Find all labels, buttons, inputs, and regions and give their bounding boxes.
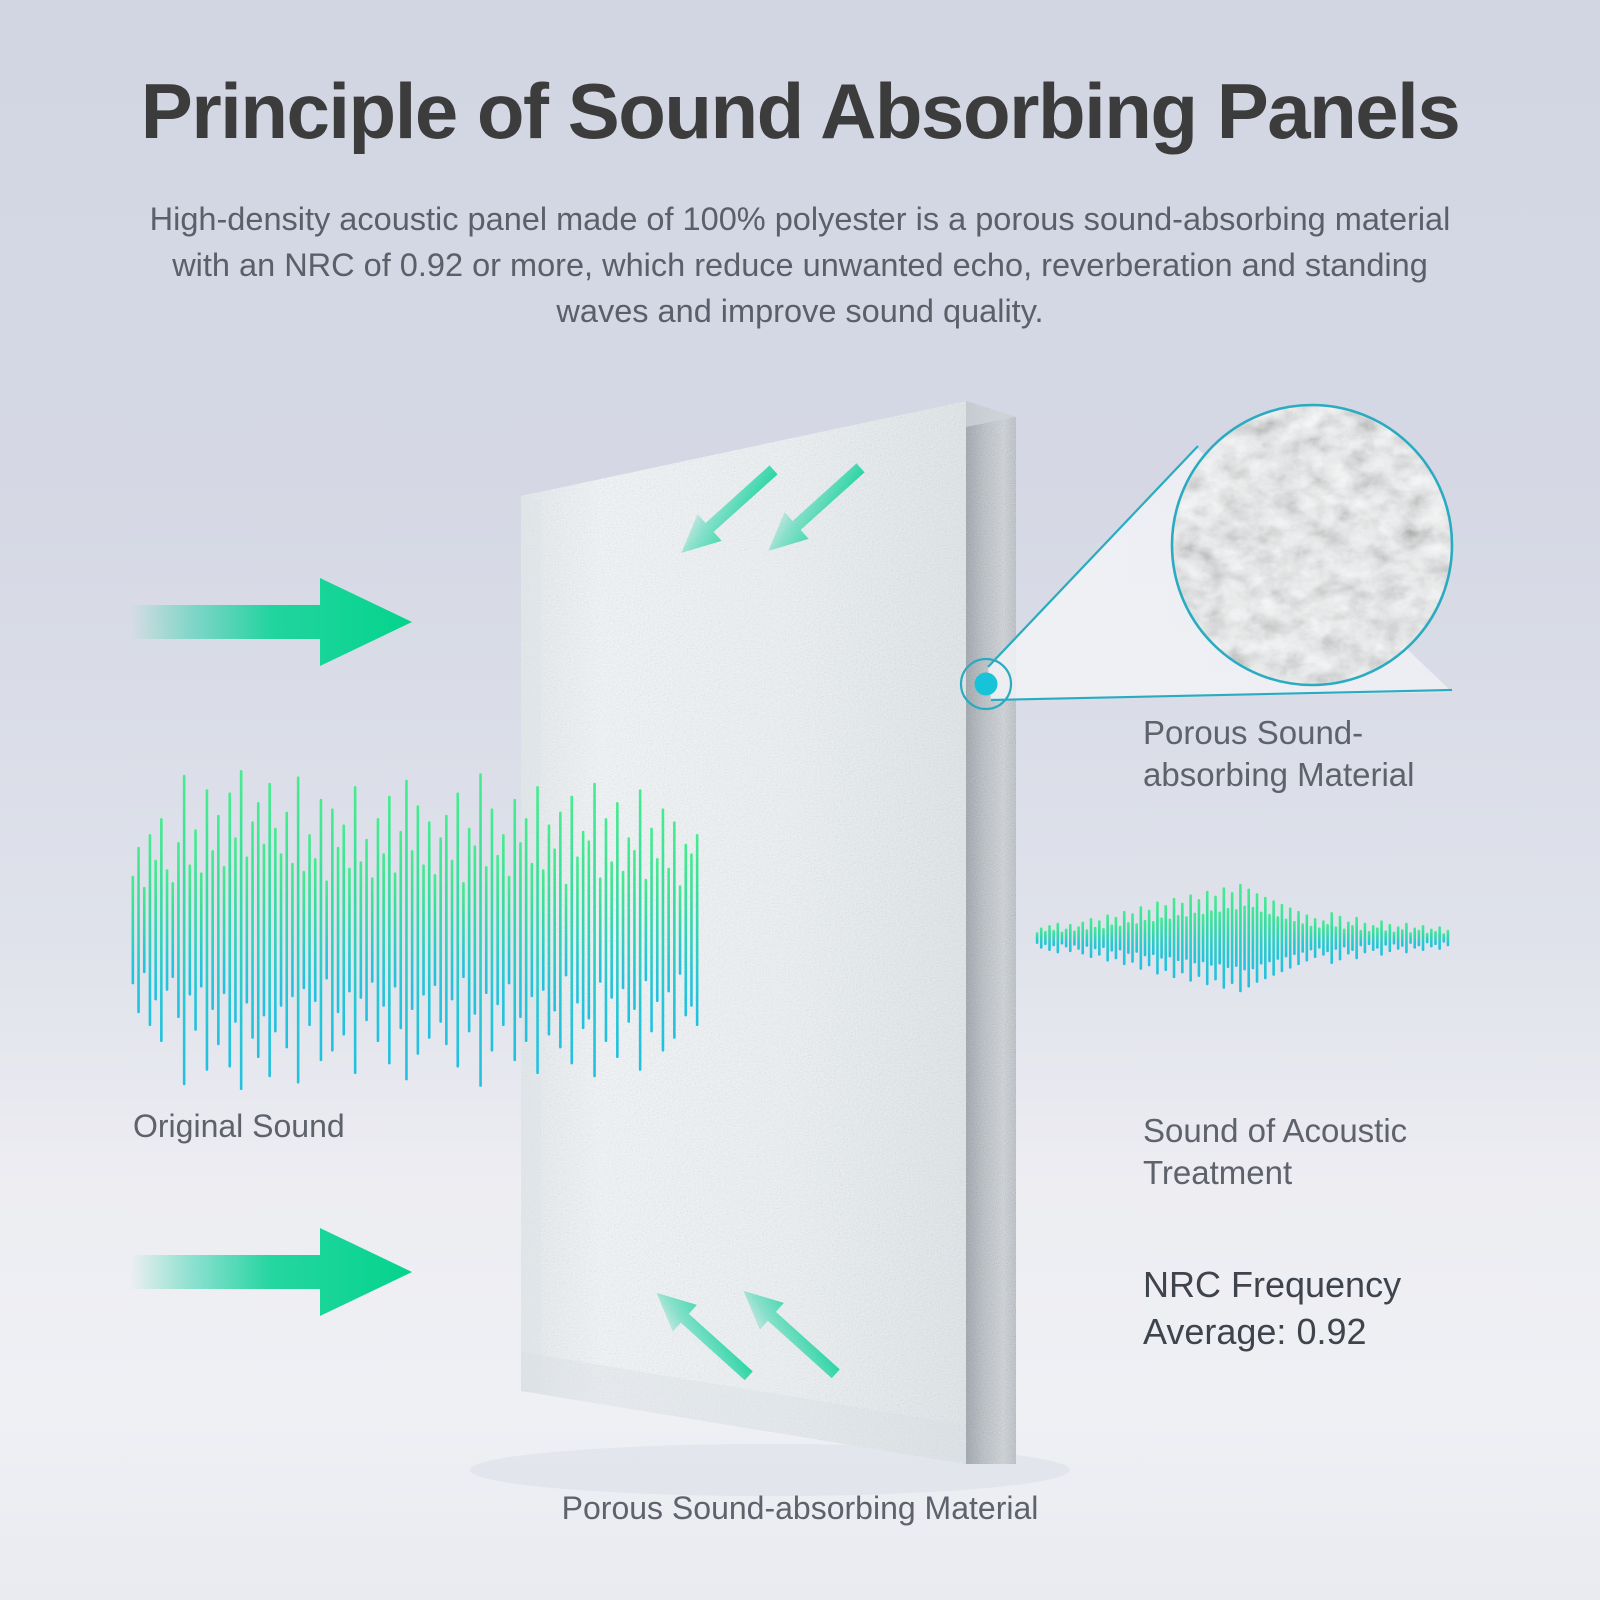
waveform-bar — [667, 868, 670, 993]
waveform-bar — [576, 856, 579, 1003]
scatter-arrows-group — [645, 1277, 848, 1389]
waveform-bar — [468, 828, 471, 1033]
waveform-bar — [1297, 911, 1300, 965]
waveform-bar — [1393, 932, 1396, 945]
waveform-bar — [149, 834, 152, 1026]
waveform-bar — [154, 860, 157, 1001]
waveform-bar — [297, 776, 300, 1083]
waveform-bar — [314, 858, 317, 1002]
waveform-bar — [650, 828, 653, 1033]
waveform-bar — [394, 872, 397, 987]
waveform-bar — [1206, 891, 1209, 985]
waveform-bar — [605, 818, 608, 1042]
waveform-bar — [673, 821, 676, 1039]
panel-left-lip — [521, 496, 541, 1393]
waveform-bar — [1351, 925, 1354, 951]
waveform-bar — [690, 853, 693, 1007]
waveform-bar — [1140, 906, 1143, 970]
waveform-bar — [200, 872, 203, 987]
waveform-bar — [696, 834, 699, 1026]
waveform-bar — [223, 866, 226, 994]
waveform-bar — [502, 834, 505, 1026]
infographic-canvas: Principle of Sound Absorbing Panels High… — [0, 0, 1600, 1600]
waveform-bar — [1239, 884, 1242, 993]
waveform-bar — [496, 855, 499, 1005]
waveform-bar — [1181, 903, 1184, 974]
waveform-bar — [542, 869, 545, 991]
waveform-treated-sound — [1036, 884, 1449, 993]
waveform-bar — [1193, 913, 1196, 964]
waveform-bar — [303, 871, 306, 989]
waveform-bar — [1123, 911, 1126, 965]
hotspot-ring-icon — [961, 659, 1011, 709]
waveform-bar — [1289, 907, 1292, 968]
waveform-bar — [171, 882, 174, 978]
waveform-bar — [1065, 929, 1068, 948]
waveform-bar — [1335, 926, 1338, 950]
waveform-bar — [1413, 927, 1416, 948]
waveform-bar — [240, 770, 243, 1090]
waveform-bar — [1447, 930, 1450, 947]
waveform-bar — [570, 796, 573, 1065]
waveform-bar — [1086, 929, 1089, 947]
waveform-bar — [553, 848, 556, 1011]
waveform-bar — [679, 885, 682, 975]
waveform-bar — [1144, 920, 1147, 957]
waveform-bar — [1073, 930, 1076, 945]
waveform-bar — [599, 877, 602, 983]
waveform-bar — [1119, 926, 1122, 951]
waveform-bar — [1169, 919, 1172, 958]
waveform-bar — [1359, 930, 1362, 947]
waveform-bar — [422, 864, 425, 995]
waveform-bar — [536, 786, 539, 1074]
arrow-down-left-icon — [732, 1277, 848, 1387]
panel-bottom-shade — [521, 1352, 966, 1464]
waveform-bar — [1040, 927, 1043, 948]
panel-side-edge — [966, 401, 1016, 1464]
waveform-bar — [1256, 893, 1259, 983]
waveform-bar — [1177, 915, 1180, 961]
acoustic-panel — [521, 401, 1016, 1464]
waveform-bar — [280, 853, 283, 1007]
waveform-bar — [337, 847, 340, 1013]
waveform-original-sound — [132, 770, 699, 1090]
waveform-bar — [1384, 930, 1387, 945]
waveform-bar — [417, 805, 420, 1055]
waveform-bar — [1057, 923, 1060, 954]
waveform-bar — [246, 856, 249, 1003]
waveform-bar — [1243, 906, 1246, 971]
panel-top-bevel — [521, 401, 1016, 506]
waveform-bar — [582, 831, 585, 1029]
waveform-bar — [1268, 914, 1271, 962]
waveform-bar — [1090, 918, 1093, 958]
waveform-bar — [1418, 930, 1421, 947]
page-title: Principle of Sound Absorbing Panels — [0, 72, 1600, 150]
waveform-bar — [1397, 926, 1400, 950]
waveform-bar — [1127, 922, 1130, 954]
waveform-bar — [1372, 925, 1375, 951]
label-porous-material-magnifier: Porous Sound-absorbing Material — [1143, 712, 1483, 796]
waveform-bar — [633, 850, 636, 1010]
waveform-bar — [1247, 888, 1250, 987]
waveform-bar — [1368, 931, 1371, 945]
waveform-bar — [137, 847, 140, 1013]
waveform-bar — [143, 887, 146, 973]
waveform-bar — [519, 842, 522, 1018]
waveform-bar — [1252, 907, 1255, 970]
waveform-bar — [1044, 931, 1047, 945]
arrow-up-left-icon — [756, 455, 872, 565]
waveform-bar — [610, 861, 613, 999]
waveform-bar — [1355, 917, 1358, 959]
waveform-bar — [1430, 929, 1433, 948]
incoming-arrow-top — [130, 578, 412, 666]
waveform-bar — [285, 812, 288, 1049]
waveform-bar — [1442, 933, 1445, 942]
waveform-bar — [1173, 898, 1176, 978]
waveform-bar — [1281, 904, 1284, 972]
waveform-bar — [1376, 927, 1379, 948]
waveform-bar — [1293, 921, 1296, 955]
waveform-bar — [1052, 930, 1055, 947]
waveform-bar — [1310, 926, 1313, 951]
waveform-bar — [1285, 919, 1288, 958]
waveform-bar — [160, 818, 163, 1042]
waveform-bar — [1164, 905, 1167, 971]
waveform-bar — [1318, 927, 1321, 948]
waveform-bar — [1330, 912, 1333, 964]
magnifier-callout — [961, 405, 1452, 709]
waveform-bar — [1422, 925, 1425, 951]
waveform-bar — [308, 834, 311, 1026]
waveform-bar — [274, 828, 277, 1033]
label-original-sound: Original Sound — [133, 1108, 345, 1145]
waveform-bar — [1409, 932, 1412, 944]
waveform-bar — [1098, 920, 1101, 955]
incoming-arrow-bottom — [130, 1228, 412, 1316]
waveform-bar — [325, 880, 328, 979]
waveform-bar — [1223, 887, 1226, 988]
waveform-bar — [1264, 897, 1267, 980]
magnifier-connector-cone — [988, 447, 1452, 700]
reflection-arrows-group — [669, 455, 872, 567]
waveform-bar — [1218, 911, 1221, 964]
waveform-bar — [639, 789, 642, 1071]
magnifier-circle-icon — [1172, 405, 1452, 685]
waveform-bar — [1343, 929, 1346, 948]
label-porous-material-bottom: Porous Sound-absorbing Material — [0, 1490, 1600, 1527]
waveform-bar — [1202, 914, 1205, 962]
waveform-bar — [348, 868, 351, 993]
waveform-bar — [342, 824, 345, 1035]
waveform-bar — [627, 837, 630, 1023]
waveform-bar — [1198, 899, 1201, 977]
waveform-bar — [320, 799, 323, 1061]
waveform-bar — [371, 877, 374, 983]
waveform-bar — [166, 869, 169, 991]
waveform-bar — [1115, 917, 1118, 959]
waveform-bar — [206, 789, 209, 1071]
waveform-bar — [217, 815, 220, 1045]
waveform-bar — [565, 884, 568, 977]
waveform-bar — [1185, 916, 1188, 960]
waveform-bar — [1389, 924, 1392, 952]
waveform-bar — [377, 818, 380, 1042]
waveform-bar — [1094, 927, 1097, 949]
waveform-bar — [382, 853, 385, 1007]
waveform-bar — [508, 876, 511, 985]
waveform-bar — [228, 792, 231, 1067]
waveform-bar — [1131, 913, 1134, 963]
waveform-bar — [1438, 926, 1441, 950]
label-sound-of-acoustic-treatment: Sound of Acoustic Treatment — [1143, 1110, 1473, 1194]
waveform-bar — [1306, 914, 1309, 961]
waveform-bar — [411, 850, 414, 1010]
waveform-bar — [234, 837, 237, 1023]
waveform-bar — [211, 850, 214, 1010]
panel-face — [521, 401, 966, 1464]
waveform-bar — [1110, 924, 1113, 951]
waveform-bar — [456, 792, 459, 1067]
hotspot-dot-icon — [975, 673, 998, 696]
waveform-bar — [428, 821, 431, 1039]
waveform-bar — [662, 808, 665, 1051]
waveform-bar — [399, 831, 402, 1029]
waveform-bar — [1227, 908, 1230, 968]
waveform-bar — [622, 871, 625, 989]
waveform-bar — [616, 802, 619, 1058]
waveform-bar — [1077, 926, 1080, 950]
waveform-bar — [1160, 917, 1163, 958]
waveform-bar — [485, 866, 488, 994]
waveform-bar — [1210, 910, 1213, 965]
waveform-bar — [183, 775, 186, 1085]
waveform-bar — [354, 786, 357, 1074]
waveform-bar — [365, 839, 368, 1021]
waveform-bar — [1152, 921, 1155, 955]
page-subtitle: High-density acoustic panel made of 100%… — [135, 196, 1465, 334]
waveform-bar — [1314, 918, 1317, 958]
waveform-bar — [1189, 894, 1192, 981]
waveform-bar — [491, 808, 494, 1051]
waveform-bar — [268, 783, 271, 1077]
waveform-bar — [189, 864, 192, 995]
waveform-bar — [1401, 929, 1404, 947]
waveform-bar — [684, 844, 687, 1017]
waveform-bar — [1048, 925, 1051, 951]
waveform-bar — [1102, 928, 1105, 948]
waveform-bar — [1148, 910, 1151, 967]
waveform-bar — [1061, 932, 1064, 945]
waveform-bar — [1235, 909, 1238, 967]
arrow-down-left-icon — [645, 1279, 761, 1389]
waveform-bar — [1231, 892, 1234, 984]
waveform-bar — [434, 874, 437, 986]
waveform-bar — [1364, 923, 1367, 954]
waveform-bar — [513, 799, 516, 1061]
magnifier-connector-line-top — [988, 446, 1198, 667]
waveform-bar — [593, 783, 596, 1077]
waveform-bar — [645, 879, 648, 981]
arrow-up-left-icon — [669, 457, 785, 567]
waveform-bar — [1272, 900, 1275, 976]
waveform-bar — [1426, 933, 1429, 944]
waveform-bar — [405, 780, 408, 1081]
waveform-bar — [1301, 923, 1304, 953]
waveform-bar — [360, 861, 363, 999]
waveform-bar — [1069, 924, 1072, 952]
waveform-bar — [1322, 920, 1325, 955]
waveform-bar — [1106, 914, 1109, 961]
waveform-bar — [548, 824, 551, 1035]
label-nrc-frequency-average: NRC Frequency Average: 0.92 — [1143, 1262, 1483, 1356]
waveform-bar — [451, 860, 454, 1001]
waveform-bar — [1276, 916, 1279, 960]
waveform-bar — [291, 863, 294, 997]
waveform-bar — [1326, 924, 1329, 952]
waveform-bar — [177, 842, 180, 1018]
waveform-bar — [445, 815, 448, 1045]
waveform-bar — [474, 845, 477, 1015]
waveform-bar — [1339, 916, 1342, 961]
waveform-bar — [1214, 896, 1217, 981]
waveform-bar — [559, 812, 562, 1049]
waveform-bar — [1135, 923, 1138, 953]
waveform-bar — [462, 882, 465, 978]
waveform-bar — [1081, 921, 1084, 954]
waveform-bar — [656, 858, 659, 1002]
waveform-bar — [194, 829, 197, 1031]
waveform-bar — [257, 802, 260, 1058]
waveform-bar — [531, 863, 534, 997]
waveform-bar — [251, 821, 254, 1039]
panel-shadow — [470, 1444, 1070, 1496]
waveform-bar — [479, 773, 482, 1087]
waveform-bar — [388, 796, 391, 1065]
waveform-bar — [1347, 921, 1350, 954]
waveform-bar — [1405, 923, 1408, 954]
waveform-bar — [525, 818, 528, 1042]
waveform-bar — [132, 876, 135, 985]
magnifier-connector-line-bottom — [991, 690, 1452, 700]
waveform-bar — [1156, 901, 1159, 974]
waveform-bar — [263, 844, 266, 1017]
waveform-bar — [1036, 932, 1039, 944]
waveform-bar — [439, 837, 442, 1023]
waveform-bar — [588, 840, 591, 1019]
waveform-bar — [1380, 920, 1383, 955]
waveform-bar — [1260, 911, 1263, 964]
waveform-bar — [1434, 931, 1437, 945]
waveform-bar — [331, 808, 334, 1051]
